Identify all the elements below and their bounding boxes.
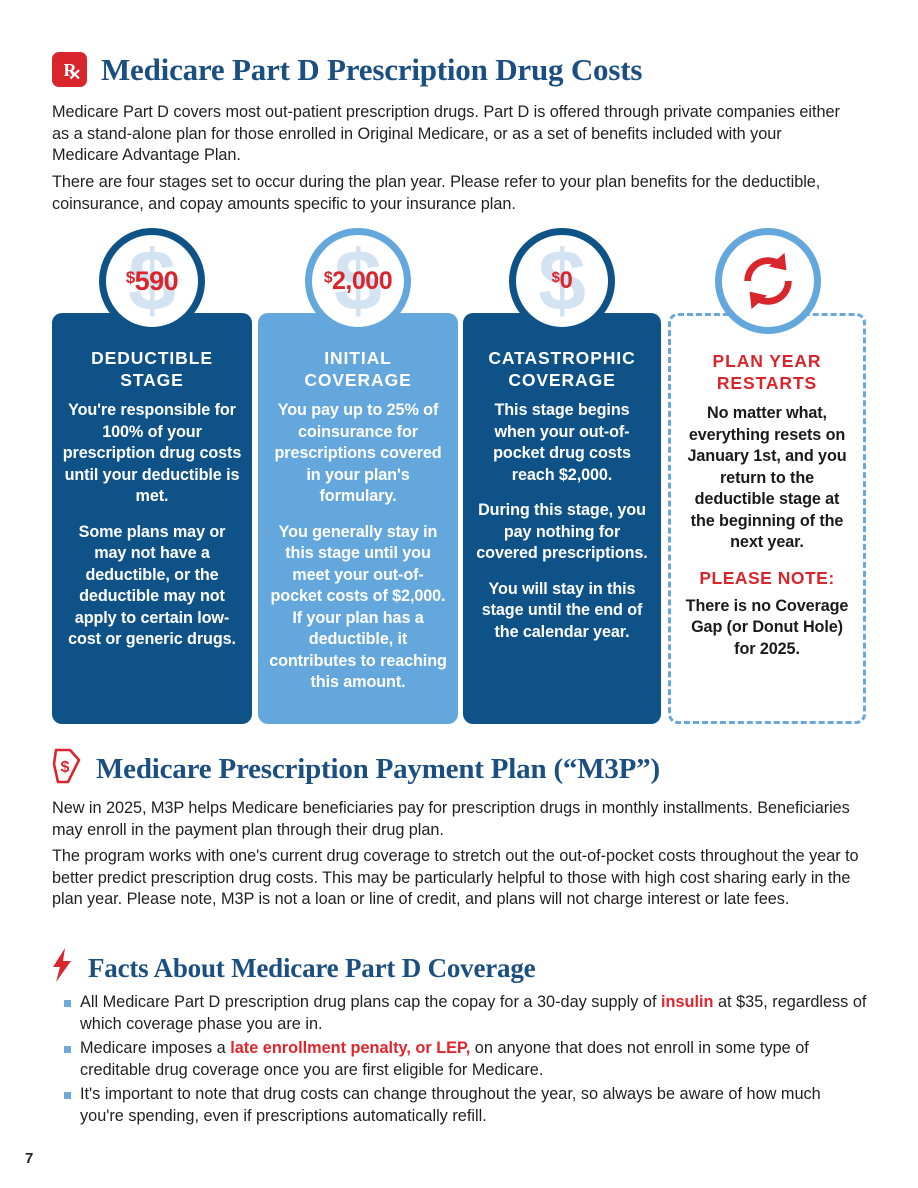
amount-value: 0: [559, 267, 572, 294]
stage-card-catastrophic-coverage: CATASTROPHIC COVERAGE This stage begins …: [463, 313, 661, 724]
bullet-text-pre: It's important to note that drug costs c…: [80, 1085, 821, 1125]
stage-title: INITIAL COVERAGE: [268, 347, 448, 391]
section-heading-facts: Facts About Medicare Part D Coverage: [50, 948, 870, 987]
section-heading-m3p: $ Medicare Prescription Payment Plan (“M…: [52, 748, 872, 789]
stage-body-1: This stage begins when your out-of-pocke…: [473, 400, 651, 486]
list-item: All Medicare Part D prescription drug pl…: [52, 992, 867, 1035]
section-title-facts: Facts About Medicare Part D Coverage: [88, 953, 535, 983]
stage-card-initial-coverage: INITIAL COVERAGE You pay up to 25% of co…: [258, 313, 458, 724]
price-tag-dollar-icon: $: [52, 748, 82, 789]
stage-body-2: Some plans may or may not have a deducti…: [62, 522, 242, 651]
stage-circle-initial-coverage: $ $2,000: [305, 228, 411, 334]
stage-circle-deductible: $ $590: [99, 228, 205, 334]
section-title-m3p: Medicare Prescription Payment Plan (“M3P…: [96, 753, 660, 785]
page-number: 7: [25, 1150, 33, 1167]
stage-title: CATASTROPHIC COVERAGE: [473, 347, 651, 391]
bullet-text-pre: All Medicare Part D prescription drug pl…: [80, 993, 661, 1011]
facts-bullet-list: All Medicare Part D prescription drug pl…: [52, 992, 867, 1130]
intro-paragraph-2: There are four stages set to occur durin…: [52, 172, 857, 215]
stage-body-1: You pay up to 25% of coinsurance for pre…: [268, 400, 448, 508]
bullet-marker-icon: [64, 1046, 71, 1053]
currency-symbol: $: [324, 269, 332, 286]
svg-text:$: $: [61, 759, 70, 776]
currency-symbol: $: [126, 267, 135, 286]
stage-amount-catastrophic: $0: [552, 267, 573, 295]
stage-title: PLAN YEAR RESTARTS: [681, 350, 853, 394]
m3p-paragraph-1: New in 2025, M3P helps Medicare benefici…: [52, 798, 862, 841]
stage-body-1: You're responsible for 100% of your pres…: [62, 400, 242, 508]
intro-paragraph-1: Medicare Part D covers most out-patient …: [52, 102, 852, 167]
stages-infographic: DEDUCTIBLE STAGE You're responsible for …: [52, 228, 866, 724]
bullet-highlight: insulin: [661, 993, 713, 1011]
page-root: R Medicare Part D Prescription Drug Cost…: [0, 0, 918, 1188]
stage-body-1: No matter what, everything resets on Jan…: [681, 403, 853, 554]
stage-body-2: You generally stay in this stage until y…: [268, 522, 448, 694]
stage-body-3: You will stay in this stage until the en…: [473, 579, 651, 644]
stage-body-2: During this stage, you pay nothing for c…: [473, 500, 651, 565]
lightning-bolt-icon: [50, 948, 74, 987]
stage-note-body: There is no Coverage Gap (or Donut Hole)…: [681, 596, 853, 661]
bullet-marker-icon: [64, 1000, 71, 1007]
amount-value: 2,000: [332, 267, 392, 295]
stage-note-label: PLEASE NOTE:: [681, 568, 853, 589]
stage-circle-plan-year-restarts: [715, 228, 821, 334]
stage-amount-deductible: $590: [126, 266, 178, 297]
list-item: Medicare imposes a late enrollment penal…: [52, 1038, 867, 1081]
stage-card-deductible: DEDUCTIBLE STAGE You're responsible for …: [52, 313, 252, 724]
m3p-paragraph-2: The program works with one's current dru…: [52, 846, 862, 911]
stage-card-plan-year-restarts: PLAN YEAR RESTARTS No matter what, every…: [668, 313, 866, 724]
list-item: It's important to note that drug costs c…: [52, 1084, 867, 1127]
stage-amount-initial-coverage: $2,000: [324, 267, 392, 296]
page-title: Medicare Part D Prescription Drug Costs: [101, 53, 642, 87]
stage-title: DEDUCTIBLE STAGE: [62, 347, 242, 391]
section-heading-part-d-costs: R Medicare Part D Prescription Drug Cost…: [52, 52, 872, 87]
bullet-marker-icon: [64, 1092, 71, 1099]
amount-value: 590: [135, 266, 179, 296]
refresh-restart-icon: [737, 250, 799, 312]
bullet-highlight: late enrollment penalty, or LEP,: [230, 1039, 470, 1057]
stage-circle-catastrophic-coverage: $ $0: [509, 228, 615, 334]
bullet-text-pre: Medicare imposes a: [80, 1039, 230, 1057]
rx-icon: R: [52, 52, 87, 87]
